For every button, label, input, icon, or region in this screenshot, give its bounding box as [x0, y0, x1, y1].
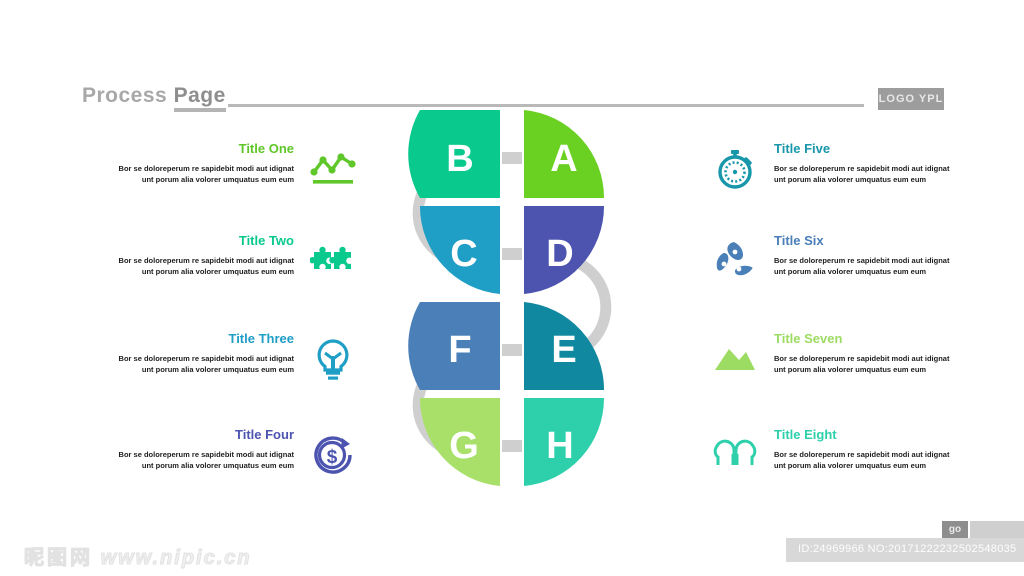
item-title-seven[interactable]: Title Seven Bor se doloreperum re sapide…	[712, 332, 962, 404]
item-body: Bor se doloreperum re sapidebit modi aut…	[116, 256, 294, 277]
petal-label-H: H	[546, 425, 573, 467]
watermark: 昵图网 www.nipic.cn	[24, 541, 252, 570]
item-title-one[interactable]: Title One Bor se doloreperum re sapidebi…	[106, 142, 356, 214]
slide-header: Process Page LOGO YPL	[0, 40, 1024, 80]
svg-text:$: $	[327, 447, 338, 468]
nub-row1	[502, 152, 522, 164]
page-title-main: Process	[82, 84, 167, 107]
item-title: Title Three	[116, 332, 294, 346]
petal-label-G: G	[449, 425, 479, 467]
header-rule	[228, 104, 864, 107]
petal-label-B: B	[446, 138, 473, 180]
item-title-six[interactable]: Title Six Bor se doloreperum re sapidebi…	[712, 234, 962, 306]
item-text-block: Title Eight Bor se doloreperum re sapide…	[774, 428, 954, 471]
item-title-five[interactable]: Title Five Bor se doloreperum re sapideb…	[712, 142, 962, 214]
item-text-block: Title Three Bor se doloreperum re sapide…	[116, 332, 294, 375]
item-body: Bor se doloreperum re sapidebit modi aut…	[774, 256, 954, 277]
line-chart-icon	[310, 146, 356, 192]
nub-row2	[502, 248, 522, 260]
watermark-cn: 昵图网	[24, 547, 93, 569]
item-title: Title Five	[774, 142, 954, 156]
item-title: Title Two	[116, 234, 294, 248]
petal-label-D: D	[546, 233, 573, 275]
network-cluster-icon	[712, 238, 758, 284]
petal-diagram: B A C D F E G H	[360, 108, 664, 500]
item-text-block: Title Four Bor se doloreperum re sapideb…	[116, 428, 294, 471]
item-body: Bor se doloreperum re sapidebit modi aut…	[774, 354, 954, 375]
item-text-block: Title Seven Bor se doloreperum re sapide…	[774, 332, 954, 375]
item-title-four[interactable]: $ Title Four Bor se doloreperum re sapid…	[106, 428, 356, 500]
item-body: Bor se doloreperum re sapidebit modi aut…	[774, 450, 954, 471]
center-nubs	[502, 152, 522, 452]
page-title: Process Page	[82, 84, 226, 108]
nub-row4	[502, 440, 522, 452]
slide-canvas: Process Page LOGO YPL Title One Bor se d…	[0, 0, 1024, 576]
petal-label-E: E	[551, 329, 576, 371]
item-title-eight[interactable]: Title Eight Bor se doloreperum re sapide…	[712, 428, 962, 500]
dollar-refresh-icon: $	[310, 432, 356, 478]
stopwatch-icon	[712, 146, 758, 192]
watermark-url: www.nipic.cn	[101, 547, 252, 569]
item-body: Bor se doloreperum re sapidebit modi aut…	[116, 450, 294, 471]
item-text-block: Title Six Bor se doloreperum re sapidebi…	[774, 234, 954, 277]
item-title: Title Four	[116, 428, 294, 442]
item-title: Title Seven	[774, 332, 954, 346]
petal-label-C: C	[450, 233, 477, 275]
item-body: Bor se doloreperum re sapidebit modi aut…	[116, 354, 294, 375]
item-title: Title Six	[774, 234, 954, 248]
nub-row3	[502, 344, 522, 356]
item-text-block: Title One Bor se doloreperum re sapidebi…	[116, 142, 294, 185]
item-title: Title One	[116, 142, 294, 156]
item-text-block: Title Five Bor se doloreperum re sapideb…	[774, 142, 954, 185]
petal-label-A: A	[550, 138, 577, 180]
item-body: Bor se doloreperum re sapidebit modi aut…	[774, 164, 954, 185]
page-title-emphasis: Page	[174, 84, 226, 112]
item-title: Title Eight	[774, 428, 954, 442]
item-title-two[interactable]: Title Two Bor se doloreperum re sapidebi…	[106, 234, 356, 306]
lightbulb-icon	[310, 336, 356, 382]
mountain-chart-icon	[712, 336, 758, 382]
footer-id-text: ID:24969966 NO:20171222232502548035	[798, 543, 1016, 555]
puzzle-icon	[310, 238, 356, 284]
two-heads-icon	[712, 432, 758, 478]
item-body: Bor se doloreperum re sapidebit modi aut…	[116, 164, 294, 185]
footer-go-badge[interactable]: go	[942, 521, 968, 538]
petal-label-F: F	[448, 329, 471, 371]
item-title-three[interactable]: Title Three Bor se doloreperum re sapide…	[106, 332, 356, 404]
item-text-block: Title Two Bor se doloreperum re sapidebi…	[116, 234, 294, 277]
footer-filler-block	[970, 521, 1024, 538]
logo-badge: LOGO YPL	[878, 88, 944, 110]
